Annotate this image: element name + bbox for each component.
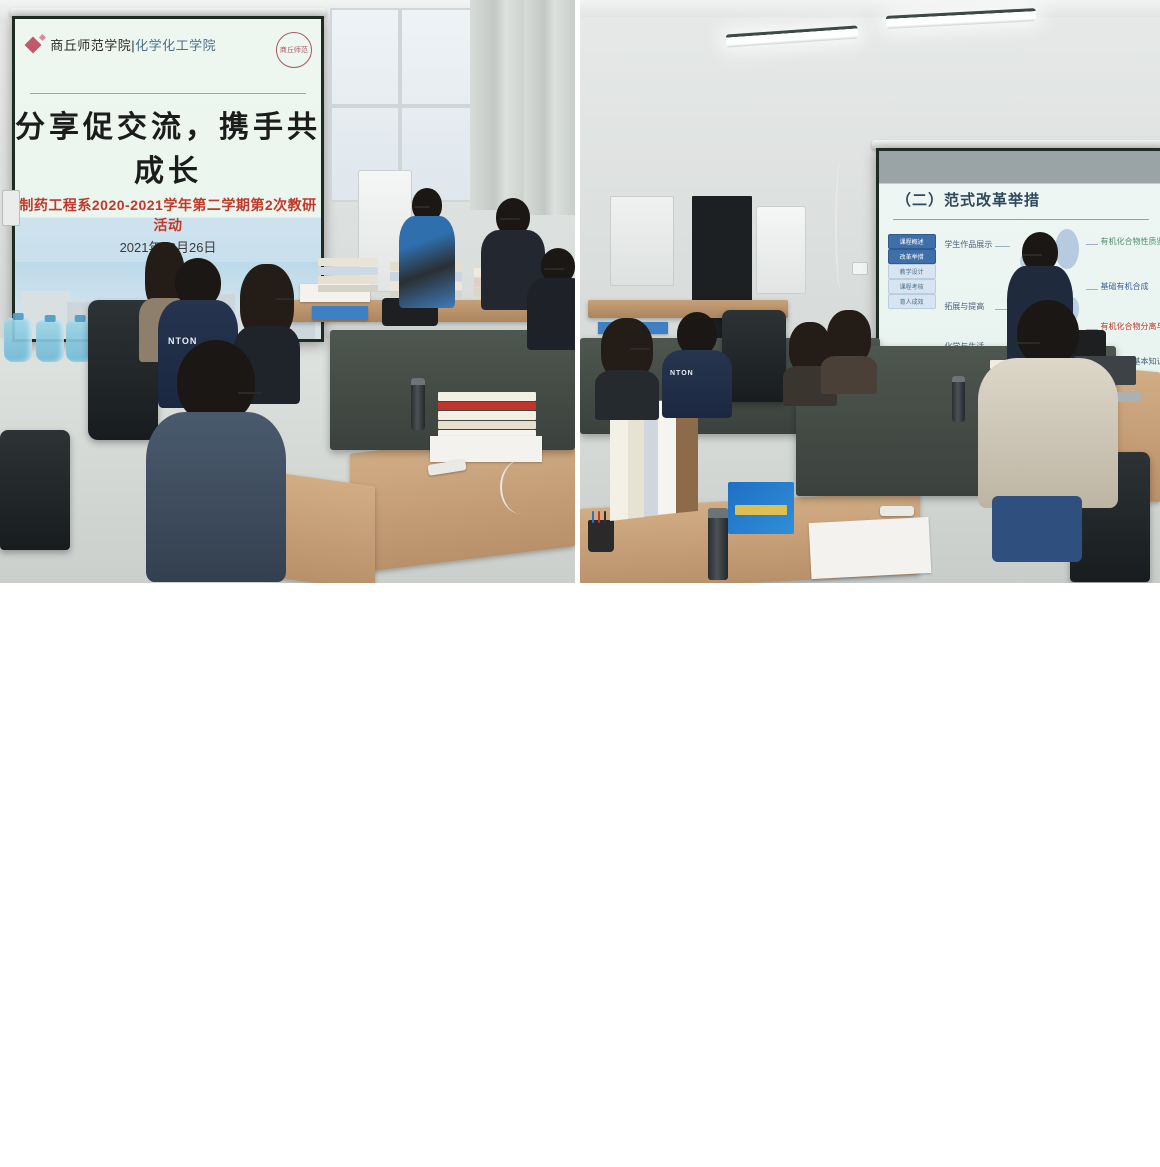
tree-right-label: 有机化合物性质鉴别 — [1101, 236, 1160, 247]
cable — [835, 160, 847, 290]
tree-right-label: 基础有机合成 — [1101, 281, 1149, 292]
diamond-small-icon — [39, 34, 46, 41]
slide-heading: （二）范式改革举措 — [896, 189, 1040, 210]
photo-panel-top-left: 商丘师范学院|化学化工学院 商丘师范 分享促交流，携手共成长 制药工程系2020… — [0, 0, 575, 583]
thermos — [952, 376, 965, 422]
thermos — [708, 508, 728, 580]
air-conditioner — [756, 206, 806, 294]
attendee-nton-jacket: NTON — [666, 312, 728, 416]
thermos — [411, 378, 425, 430]
slide-nav-item: 教学设计 — [888, 264, 936, 279]
presenter-standing — [400, 188, 454, 308]
cable — [500, 460, 542, 514]
blue-folder — [312, 306, 368, 320]
tree-right-label: 有机化合物分离与纯化技术 — [1101, 321, 1160, 332]
tree-left-label: 拓展与提高 — [944, 301, 984, 312]
water-jug — [36, 320, 64, 362]
curtain — [470, 0, 530, 210]
slide-nav-list: 课程概述 改革举措 教学设计 课程考核 育人成效 — [888, 234, 936, 309]
paper-stack — [430, 436, 542, 462]
university-seal-icon: 商丘师范 — [276, 32, 312, 68]
org-college: 化学化工学院 — [135, 38, 216, 53]
divider-line — [893, 219, 1149, 220]
office-chair — [0, 430, 70, 550]
org-school: 商丘师范学院 — [50, 38, 131, 53]
snack-box — [728, 482, 794, 534]
slide-header: 商丘师范学院|化学化工学院 — [27, 35, 309, 54]
tree-left-label: 学生作品展示 — [944, 239, 992, 250]
slide-main-title: 分享促交流，携手共成长 — [15, 102, 321, 190]
slide-nav-item: 课程概述 — [888, 234, 936, 249]
grid-gutter — [0, 588, 1160, 1167]
glue-stick — [880, 506, 914, 516]
wall-control-box — [2, 190, 20, 226]
slide-nav-item: 改革举措 — [888, 249, 936, 264]
wall-cabinet — [610, 196, 674, 286]
attendee-suit — [530, 248, 575, 348]
curtain — [524, 0, 575, 215]
slide-nav-item: 育人成效 — [888, 294, 936, 309]
slide-nav-item: 课程考核 — [888, 279, 936, 294]
water-jug — [4, 318, 32, 362]
paper-sheet — [809, 517, 932, 579]
photo-panel-top-right: （二）范式改革举措 课程概述 改革举措 教学设计 课程考核 育人成效 学生作品展… — [580, 0, 1160, 583]
pen-holder — [588, 520, 614, 552]
photo-collage: 商丘师范学院|化学化工学院 商丘师范 分享促交流，携手共成长 制药工程系2020… — [0, 0, 1160, 1167]
attendee — [598, 318, 656, 418]
book-stack — [318, 258, 378, 292]
wall-socket — [852, 262, 868, 275]
slide-subtitle: 制药工程系2020-2021学年第二学期第2次教研活动 — [15, 195, 321, 235]
book-stack — [438, 392, 536, 438]
attendee — [824, 310, 874, 390]
slide-org-line: 商丘师范学院|化学化工学院 — [50, 35, 216, 54]
jacket-text: NTON — [670, 370, 694, 377]
divider-line — [30, 93, 305, 94]
attendee-beige-jacket — [988, 300, 1108, 560]
attendee-front — [156, 340, 276, 580]
